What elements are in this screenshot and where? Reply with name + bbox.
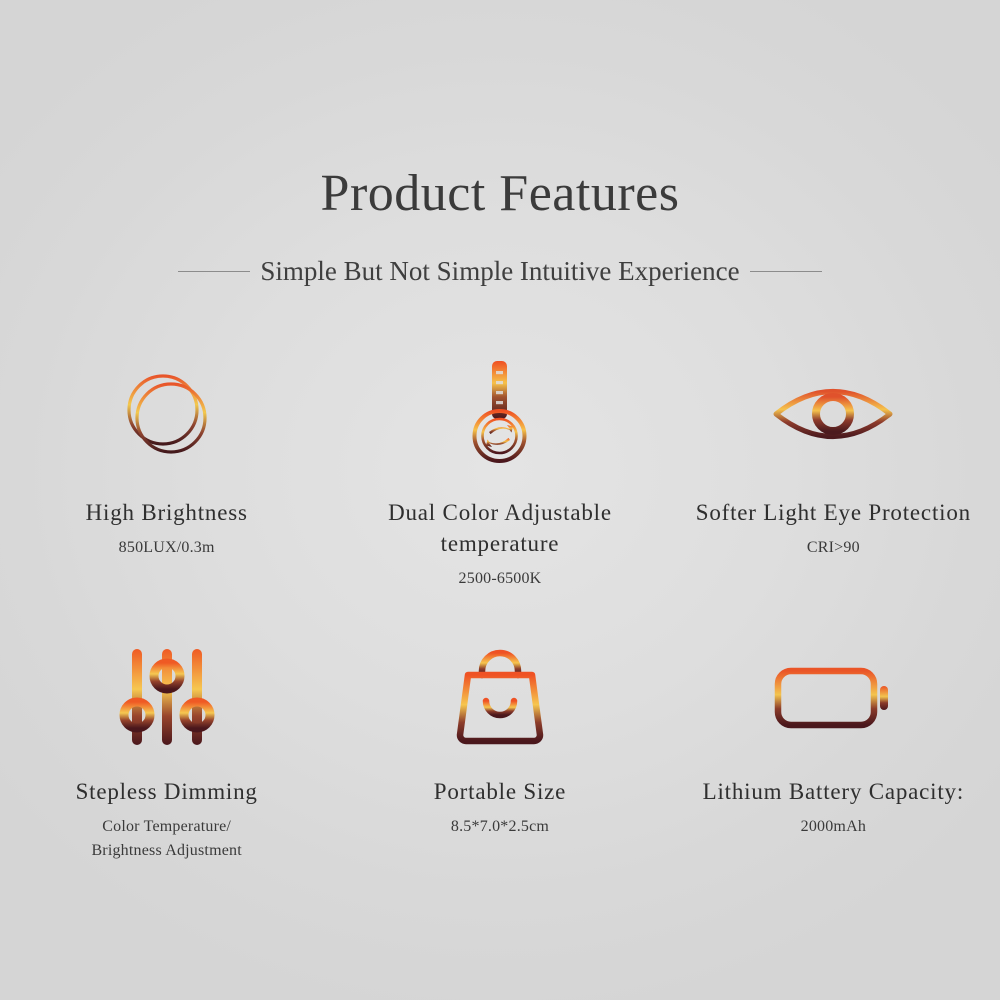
divider-left xyxy=(178,271,250,272)
feature-subtitle-line-2: Brightness Adjustment xyxy=(91,842,241,859)
feature-subtitle: 2000mAh xyxy=(801,815,866,838)
crosshair-target-icon xyxy=(111,355,223,473)
feature-subtitle-line-1: Color Temperature/ xyxy=(102,818,231,835)
features-grid: High Brightness 850LUX/0.3m xyxy=(0,355,1000,862)
feature-title: Dual Color Adjustable temperature xyxy=(355,497,645,559)
feature-subtitle: Color Temperature/ Brightness Adjustment xyxy=(91,815,241,861)
subtitle-row: Simple But Not Simple Intuitive Experien… xyxy=(0,258,1000,285)
divider-right xyxy=(750,271,822,272)
feature-title: Stepless Dimming xyxy=(76,776,258,807)
feature-item-high-brightness: High Brightness 850LUX/0.3m xyxy=(0,355,333,590)
feature-subtitle: 8.5*7.0*2.5cm xyxy=(451,815,549,838)
page-title: Product Features xyxy=(0,168,1000,220)
feature-title: Softer Light Eye Protection xyxy=(696,497,971,528)
thermometer-swap-icon xyxy=(444,355,556,473)
battery-icon xyxy=(772,638,894,756)
feature-title: Portable Size xyxy=(434,776,566,807)
feature-subtitle: 2500-6500K xyxy=(459,567,542,590)
eye-icon xyxy=(768,355,898,473)
product-features-poster: Product Features Simple But Not Simple I… xyxy=(0,0,1000,1000)
feature-title: Lithium Battery Capacity: xyxy=(703,776,964,807)
sliders-icon xyxy=(115,638,219,756)
feature-item-dual-color-temperature: Dual Color Adjustable temperature 2500-6… xyxy=(333,355,666,590)
feature-item-battery-capacity: Lithium Battery Capacity: 2000mAh xyxy=(667,638,1000,861)
feature-item-stepless-dimming: Stepless Dimming Color Temperature/ Brig… xyxy=(0,638,333,861)
feature-subtitle: 850LUX/0.3m xyxy=(119,536,215,559)
shopping-bag-icon xyxy=(448,638,552,756)
feature-title: High Brightness xyxy=(86,497,248,528)
feature-subtitle: CRI>90 xyxy=(807,536,860,559)
header: Product Features Simple But Not Simple I… xyxy=(0,0,1000,285)
feature-item-portable-size: Portable Size 8.5*7.0*2.5cm xyxy=(333,638,666,861)
page-subtitle: Simple But Not Simple Intuitive Experien… xyxy=(260,258,739,285)
feature-item-eye-protection: Softer Light Eye Protection CRI>90 xyxy=(667,355,1000,590)
